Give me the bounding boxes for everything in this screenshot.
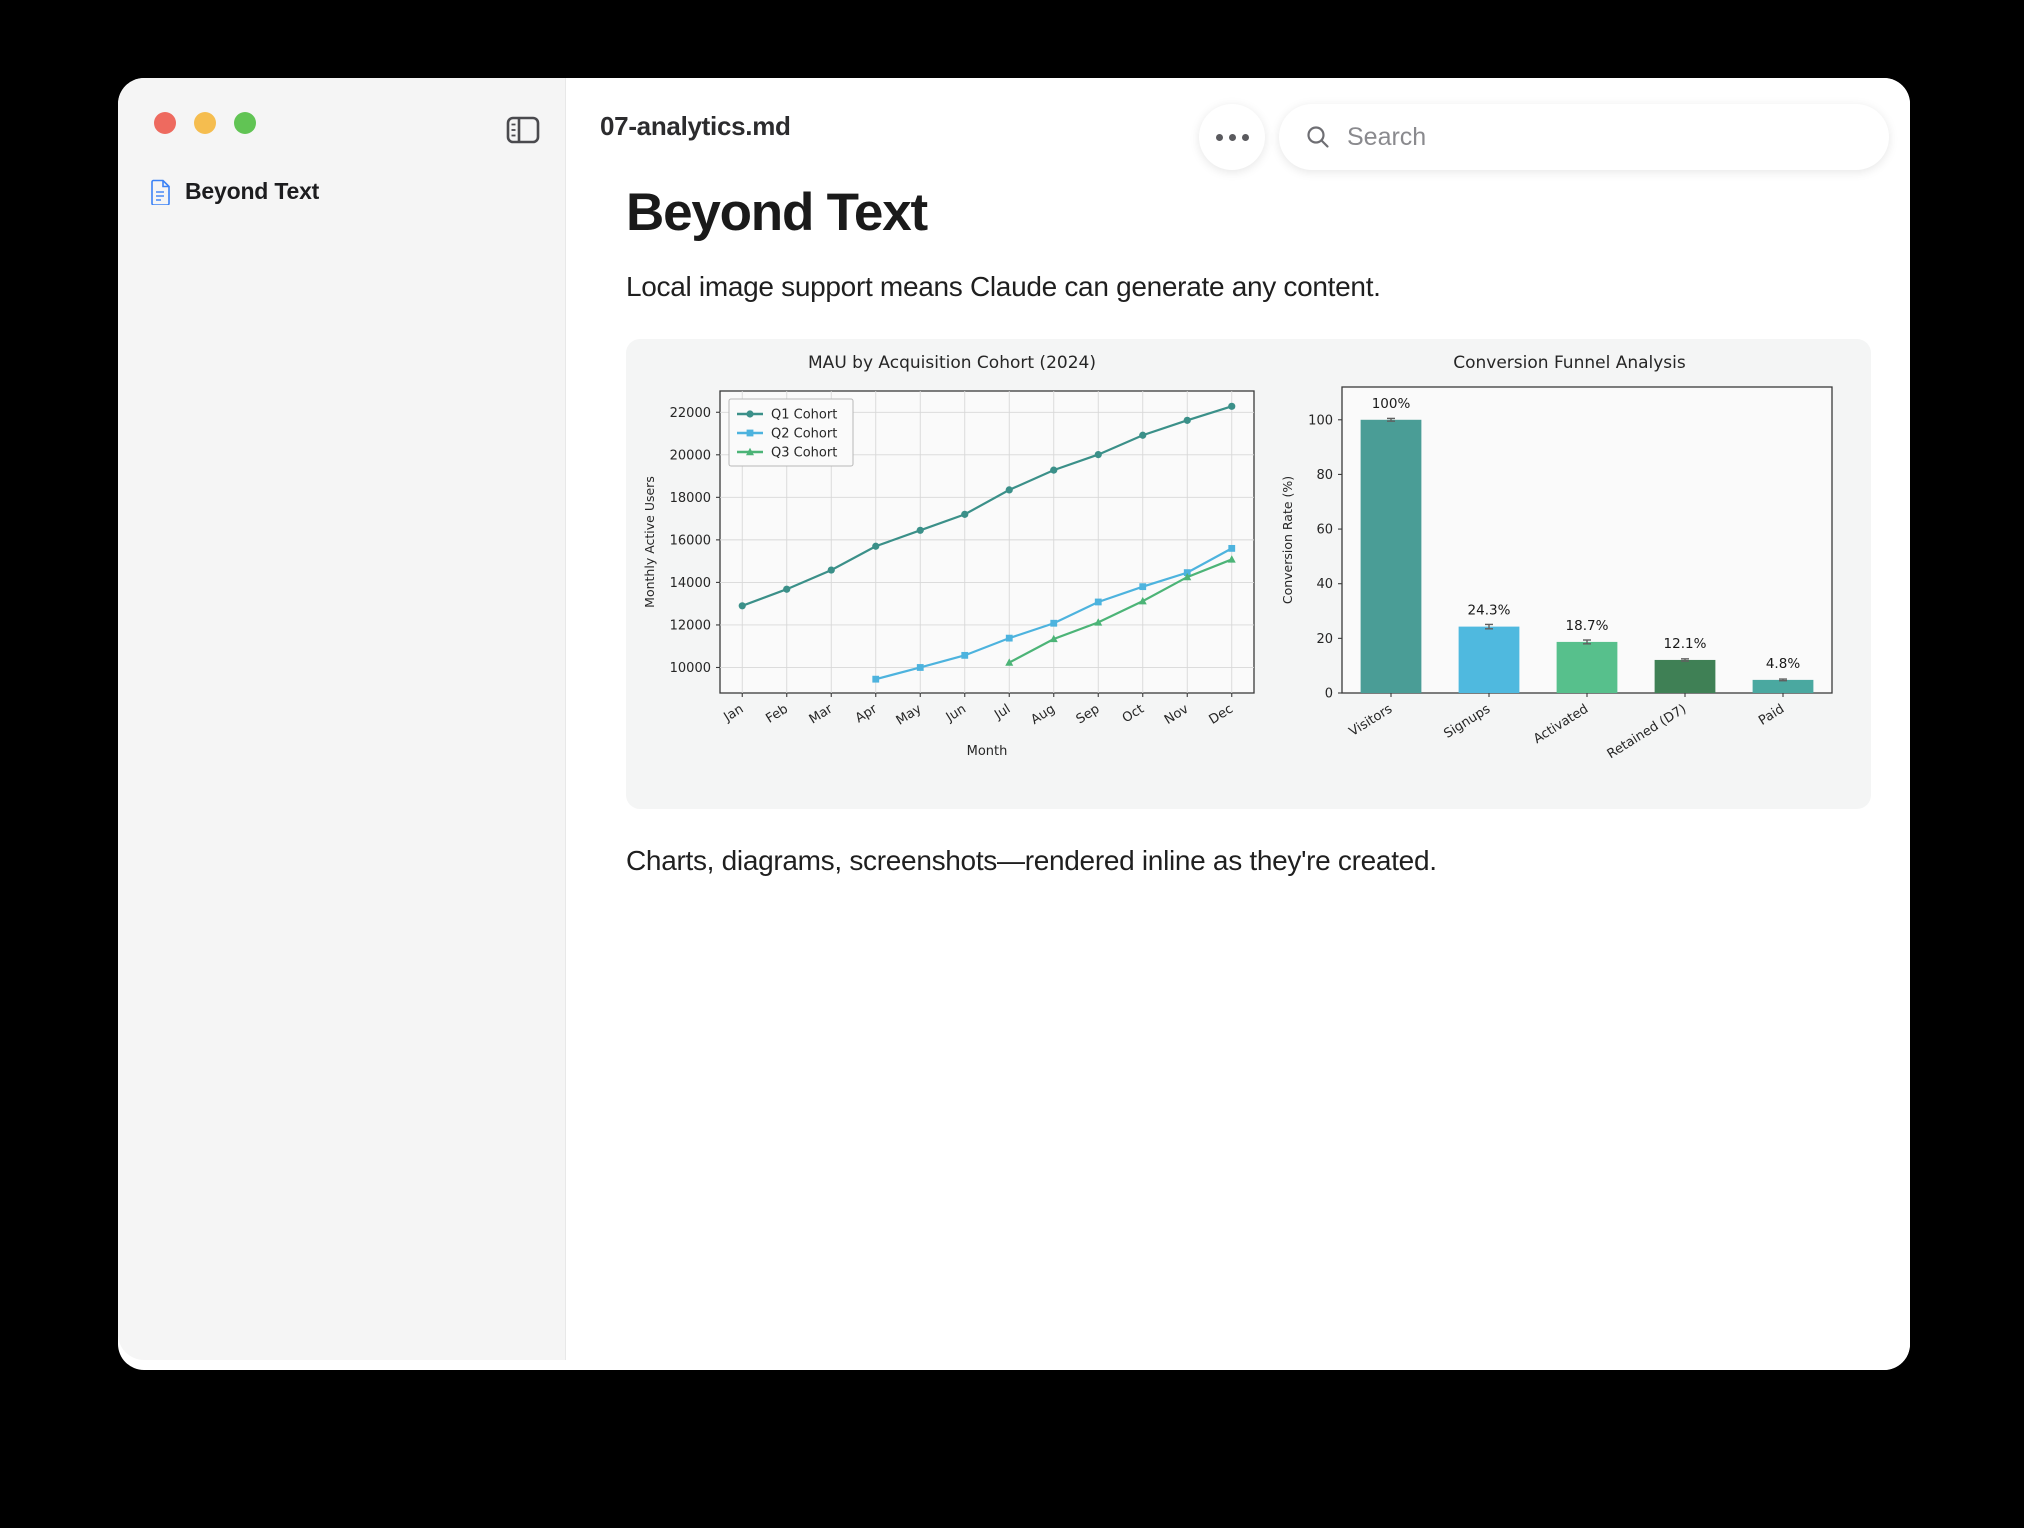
data-point: [1050, 467, 1057, 474]
y-tick-label: 40: [1316, 577, 1333, 592]
y-tick-label: 100: [1308, 413, 1333, 428]
zoom-button[interactable]: [234, 112, 256, 134]
x-tick-label: Mar: [807, 701, 836, 727]
legend-label: Q3 Cohort: [771, 446, 837, 461]
sidebar-item-beyond-text[interactable]: Beyond Text: [118, 170, 565, 213]
x-tick-label: Nov: [1162, 702, 1192, 728]
line-chart: MAU by Acquisition Cohort (2024) 1000012…: [632, 349, 1272, 803]
x-tick-label: Jun: [943, 702, 969, 726]
x-axis-label: Month: [967, 744, 1008, 759]
y-tick-label: 14000: [670, 576, 711, 591]
x-tick-label: Jul: [991, 702, 1013, 724]
data-point: [1095, 599, 1102, 606]
y-tick-label: 20000: [670, 448, 711, 463]
x-tick-label: Paid: [1756, 702, 1787, 729]
bar-value-label: 18.7%: [1566, 618, 1609, 634]
minimize-button[interactable]: [194, 112, 216, 134]
y-tick-label: 18000: [670, 491, 711, 506]
ellipsis-icon: [1242, 134, 1249, 141]
more-options-button[interactable]: [1199, 104, 1265, 170]
x-tick-label: Aug: [1028, 702, 1057, 728]
legend-label: Q1 Cohort: [771, 408, 837, 423]
x-tick-label: Jan: [721, 702, 747, 726]
toolbar: 07-analytics.md Search: [566, 78, 1910, 174]
y-tick-label: 22000: [670, 406, 711, 421]
x-tick-label: Activated: [1531, 702, 1591, 747]
data-point: [917, 527, 924, 534]
x-tick-label: Retained (D7): [1605, 702, 1689, 763]
y-axis-label: Monthly Active Users: [642, 476, 657, 608]
data-point: [1050, 620, 1057, 627]
y-tick-label: 0: [1325, 687, 1333, 702]
main-pane: 07-analytics.md Search Beyond Text: [566, 78, 1910, 1370]
close-button[interactable]: [154, 112, 176, 134]
search-icon: [1305, 124, 1331, 150]
data-point: [783, 586, 790, 593]
search-placeholder: Search: [1347, 123, 1426, 152]
window-controls: [118, 78, 565, 134]
bar: [1557, 642, 1618, 693]
x-tick-label: Feb: [763, 702, 790, 727]
x-tick-label: Apr: [853, 701, 881, 726]
data-point: [828, 566, 835, 573]
toolbar-actions: Search: [1199, 104, 1889, 170]
bar-value-label: 12.1%: [1664, 636, 1707, 652]
bar: [1753, 680, 1814, 693]
y-tick-label: 80: [1316, 468, 1333, 483]
y-tick-label: 20: [1316, 632, 1333, 647]
data-point: [1139, 432, 1146, 439]
ellipsis-icon: [1229, 134, 1236, 141]
x-tick-label: Signups: [1441, 702, 1493, 742]
data-point: [1184, 417, 1191, 424]
x-tick-label: May: [894, 702, 925, 729]
x-tick-label: Oct: [1120, 702, 1147, 727]
document-title: 07-analytics.md: [600, 111, 791, 142]
bar-chart: Conversion Funnel Analysis 020406080100C…: [1272, 349, 1867, 803]
sidebar-item-label: Beyond Text: [185, 178, 319, 205]
data-point: [872, 676, 879, 683]
sidebar-toggle-button[interactable]: [501, 108, 545, 152]
search-input[interactable]: Search: [1279, 104, 1889, 170]
data-point: [1228, 545, 1235, 552]
bar-chart-canvas: 020406080100Conversion Rate (%)100%Visit…: [1272, 373, 1867, 813]
page-title: Beyond Text: [626, 182, 1871, 243]
document-content: Beyond Text Local image support means Cl…: [566, 174, 1910, 877]
bar-value-label: 4.8%: [1766, 656, 1800, 672]
y-tick-label: 16000: [670, 533, 711, 548]
y-tick-label: 12000: [670, 618, 711, 633]
sidebar-toggle-icon: [506, 115, 540, 145]
x-tick-label: Dec: [1207, 702, 1236, 728]
bar-chart-title: Conversion Funnel Analysis: [1272, 353, 1867, 373]
data-point: [917, 664, 924, 671]
y-tick-label: 60: [1316, 523, 1333, 538]
data-point: [1228, 403, 1235, 410]
bar: [1655, 660, 1716, 693]
app-window: Beyond Text 07-analytics.md Search: [118, 78, 1910, 1370]
document-icon: [150, 179, 172, 205]
line-chart-canvas: 10000120001400016000180002000022000JanFe…: [632, 373, 1272, 813]
data-point: [961, 652, 968, 659]
bar-value-label: 24.3%: [1468, 603, 1511, 619]
data-point: [961, 511, 968, 518]
legend-label: Q2 Cohort: [771, 427, 837, 442]
data-point: [872, 543, 879, 550]
x-tick-label: Sep: [1074, 702, 1103, 728]
sidebar: Beyond Text: [118, 78, 566, 1360]
data-point: [1095, 451, 1102, 458]
ellipsis-icon: [1216, 134, 1223, 141]
bar: [1361, 420, 1422, 693]
data-point: [1139, 583, 1146, 590]
bar-value-label: 100%: [1372, 396, 1411, 412]
y-tick-label: 10000: [670, 661, 711, 676]
data-point: [1006, 486, 1013, 493]
sidebar-file-list: Beyond Text: [118, 134, 565, 213]
data-point: [739, 602, 746, 609]
lead-paragraph: Local image support means Claude can gen…: [626, 271, 1871, 303]
caption-paragraph: Charts, diagrams, screenshots—rendered i…: [626, 845, 1871, 877]
y-axis-label: Conversion Rate (%): [1280, 476, 1295, 604]
line-chart-title: MAU by Acquisition Cohort (2024): [632, 353, 1272, 373]
data-point: [1006, 635, 1013, 642]
x-tick-label: Visitors: [1347, 702, 1396, 740]
charts-image: MAU by Acquisition Cohort (2024) 1000012…: [626, 339, 1871, 809]
bar: [1459, 627, 1520, 693]
